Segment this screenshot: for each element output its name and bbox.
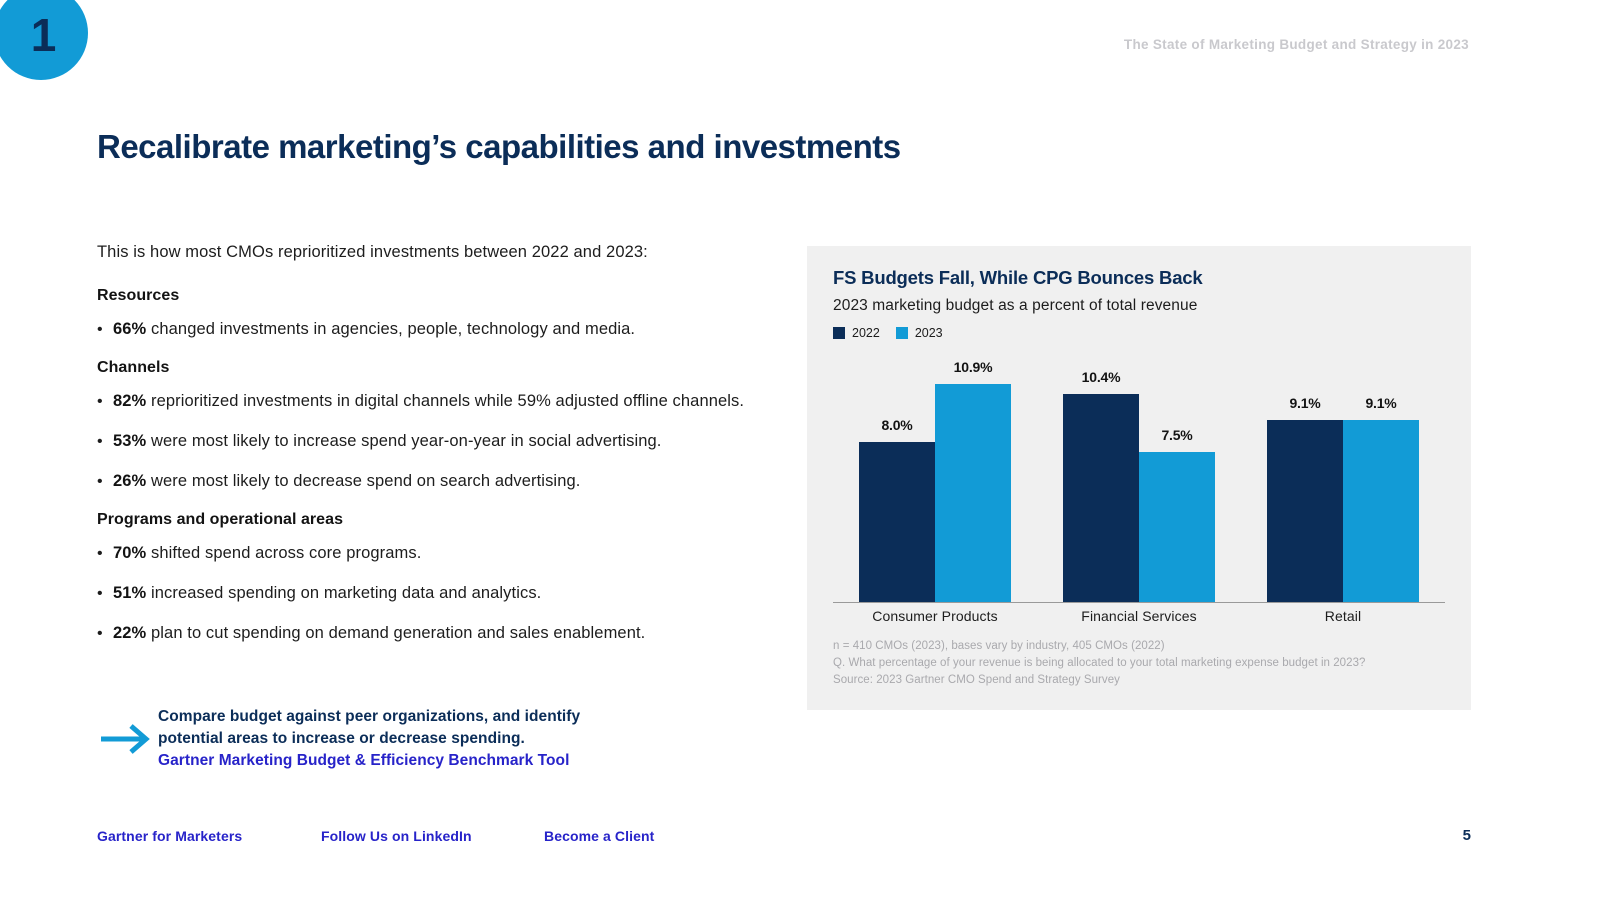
footer-link-gartner-for-marketers[interactable]: Gartner for Marketers bbox=[97, 828, 321, 844]
content-group-channels: Channels • 82% reprioritized investments… bbox=[97, 359, 747, 493]
bar-value-label: 10.9% bbox=[935, 359, 1011, 375]
footnote-n: n = 410 CMOs (2023), bases vary by indus… bbox=[833, 638, 1453, 655]
category-label: Retail bbox=[1241, 608, 1445, 624]
bullet-text: 70% shifted spend across core programs. bbox=[113, 543, 747, 565]
bar-value-label: 7.5% bbox=[1139, 427, 1215, 443]
callout-line-1: Compare budget against peer organization… bbox=[158, 708, 580, 725]
bar-column: 10.9% bbox=[935, 354, 1011, 603]
slide-root: 1 The State of Marketing Budget and Stra… bbox=[0, 0, 1600, 900]
bullet-stat: 53% bbox=[113, 432, 146, 450]
group-heading: Channels bbox=[97, 359, 747, 377]
left-content-column: This is how most CMOs reprioritized inve… bbox=[97, 243, 747, 663]
bullet-body: reprioritized investments in digital cha… bbox=[146, 392, 744, 410]
bullet-body: shifted spend across core programs. bbox=[146, 544, 421, 562]
bullet-stat: 51% bbox=[113, 584, 146, 602]
page-number: 5 bbox=[1463, 827, 1471, 844]
group-heading: Programs and operational areas bbox=[97, 511, 747, 529]
category-label: Financial Services bbox=[1037, 608, 1241, 624]
list-item: • 51% increased spending on marketing da… bbox=[97, 583, 747, 605]
list-item: • 70% shifted spend across core programs… bbox=[97, 543, 747, 565]
bullet-dot-icon: • bbox=[97, 431, 113, 453]
footnote-question: Q. What percentage of your revenue is be… bbox=[833, 655, 1453, 672]
legend-label: 2023 bbox=[915, 326, 943, 340]
step-number-badge: 1 bbox=[0, 0, 88, 80]
chart-category-labels: Consumer ProductsFinancial ServicesRetai… bbox=[833, 608, 1445, 624]
legend-item-2022: 2022 bbox=[833, 326, 880, 340]
bullet-dot-icon: • bbox=[97, 391, 113, 413]
footnote-source: Source: 2023 Gartner CMO Spend and Strat… bbox=[833, 672, 1453, 689]
bar: 8.0% bbox=[859, 442, 935, 603]
bullet-stat: 82% bbox=[113, 392, 146, 410]
chart-legend: 2022 2023 bbox=[833, 326, 943, 340]
bar-group: 10.4%7.5% bbox=[1037, 354, 1241, 603]
bullet-text: 66% changed investments in agencies, peo… bbox=[113, 319, 747, 341]
bar-value-label: 9.1% bbox=[1267, 395, 1343, 411]
chart-bar-groups: 8.0%10.9%10.4%7.5%9.1%9.1% bbox=[833, 354, 1445, 603]
footer-link-linkedin[interactable]: Follow Us on LinkedIn bbox=[321, 828, 544, 844]
step-number-label: 1 bbox=[31, 12, 56, 58]
bar: 10.9% bbox=[935, 384, 1011, 603]
legend-item-2023: 2023 bbox=[896, 326, 943, 340]
bullet-dot-icon: • bbox=[97, 471, 113, 493]
intro-paragraph: This is how most CMOs reprioritized inve… bbox=[97, 243, 747, 262]
list-item: • 66% changed investments in agencies, p… bbox=[97, 319, 747, 341]
bullet-body: were most likely to increase spend year-… bbox=[146, 432, 661, 450]
chart-subtitle: 2023 marketing budget as a percent of to… bbox=[833, 297, 1197, 315]
callout-line-2: potential areas to increase or decrease … bbox=[158, 730, 525, 747]
bullet-stat: 22% bbox=[113, 624, 146, 642]
bullet-text: 82% reprioritized investments in digital… bbox=[113, 391, 747, 413]
bar: 9.1% bbox=[1267, 420, 1343, 603]
list-item: • 53% were most likely to increase spend… bbox=[97, 431, 747, 453]
bullet-stat: 26% bbox=[113, 472, 146, 490]
chart-footnotes: n = 410 CMOs (2023), bases vary by indus… bbox=[833, 638, 1453, 689]
bar-value-label: 8.0% bbox=[859, 417, 935, 433]
category-label: Consumer Products bbox=[833, 608, 1037, 624]
bar: 7.5% bbox=[1139, 452, 1215, 603]
legend-swatch-icon bbox=[833, 327, 845, 339]
bar-value-label: 10.4% bbox=[1063, 369, 1139, 385]
bullet-stat: 70% bbox=[113, 544, 146, 562]
list-item: • 82% reprioritized investments in digit… bbox=[97, 391, 747, 413]
bullet-body: changed investments in agencies, people,… bbox=[146, 320, 635, 338]
callout-recommendation: Compare budget against peer organization… bbox=[100, 706, 720, 772]
chart-panel: FS Budgets Fall, While CPG Bounces Back … bbox=[807, 246, 1471, 710]
bar-group: 8.0%10.9% bbox=[833, 354, 1037, 603]
list-item: • 22% plan to cut spending on demand gen… bbox=[97, 623, 747, 645]
footer-links: Gartner for Marketers Follow Us on Linke… bbox=[97, 828, 654, 844]
bullet-text: 53% were most likely to increase spend y… bbox=[113, 431, 747, 453]
benchmark-tool-link[interactable]: Gartner Marketing Budget & Efficiency Be… bbox=[158, 750, 720, 772]
bar-column: 9.1% bbox=[1267, 354, 1343, 603]
bullet-body: were most likely to decrease spend on se… bbox=[146, 472, 580, 490]
bullet-text: 22% plan to cut spending on demand gener… bbox=[113, 623, 747, 645]
bar-column: 9.1% bbox=[1343, 354, 1419, 603]
bar-column: 8.0% bbox=[859, 354, 935, 603]
deck-header-title: The State of Marketing Budget and Strate… bbox=[1124, 37, 1469, 52]
chart-x-axis-line bbox=[833, 602, 1445, 604]
legend-label: 2022 bbox=[852, 326, 880, 340]
bar-column: 10.4% bbox=[1063, 354, 1139, 603]
content-group-resources: Resources • 66% changed investments in a… bbox=[97, 287, 747, 341]
bullet-text: 26% were most likely to decrease spend o… bbox=[113, 471, 747, 493]
bullet-dot-icon: • bbox=[97, 543, 113, 565]
bar-value-label: 9.1% bbox=[1343, 395, 1419, 411]
bullet-text: 51% increased spending on marketing data… bbox=[113, 583, 747, 605]
content-group-programs: Programs and operational areas • 70% shi… bbox=[97, 511, 747, 645]
bullet-body: plan to cut spending on demand generatio… bbox=[146, 624, 645, 642]
page-title: Recalibrate marketing’s capabilities and… bbox=[97, 128, 901, 166]
legend-swatch-icon bbox=[896, 327, 908, 339]
bullet-dot-icon: • bbox=[97, 623, 113, 645]
chart-title: FS Budgets Fall, While CPG Bounces Back bbox=[833, 267, 1202, 289]
chart-plot-area: 8.0%10.9%10.4%7.5%9.1%9.1% bbox=[833, 354, 1445, 603]
footer-link-become-a-client[interactable]: Become a Client bbox=[544, 828, 654, 844]
arrow-right-icon bbox=[100, 706, 158, 761]
bullet-body: increased spending on marketing data and… bbox=[146, 584, 541, 602]
bullet-stat: 66% bbox=[113, 320, 146, 338]
list-item: • 26% were most likely to decrease spend… bbox=[97, 471, 747, 493]
bar-column: 7.5% bbox=[1139, 354, 1215, 603]
bar: 9.1% bbox=[1343, 420, 1419, 603]
callout-text: Compare budget against peer organization… bbox=[158, 706, 720, 772]
bar: 10.4% bbox=[1063, 394, 1139, 603]
bar-group: 9.1%9.1% bbox=[1241, 354, 1445, 603]
bullet-dot-icon: • bbox=[97, 319, 113, 341]
group-heading: Resources bbox=[97, 287, 747, 305]
bullet-dot-icon: • bbox=[97, 583, 113, 605]
